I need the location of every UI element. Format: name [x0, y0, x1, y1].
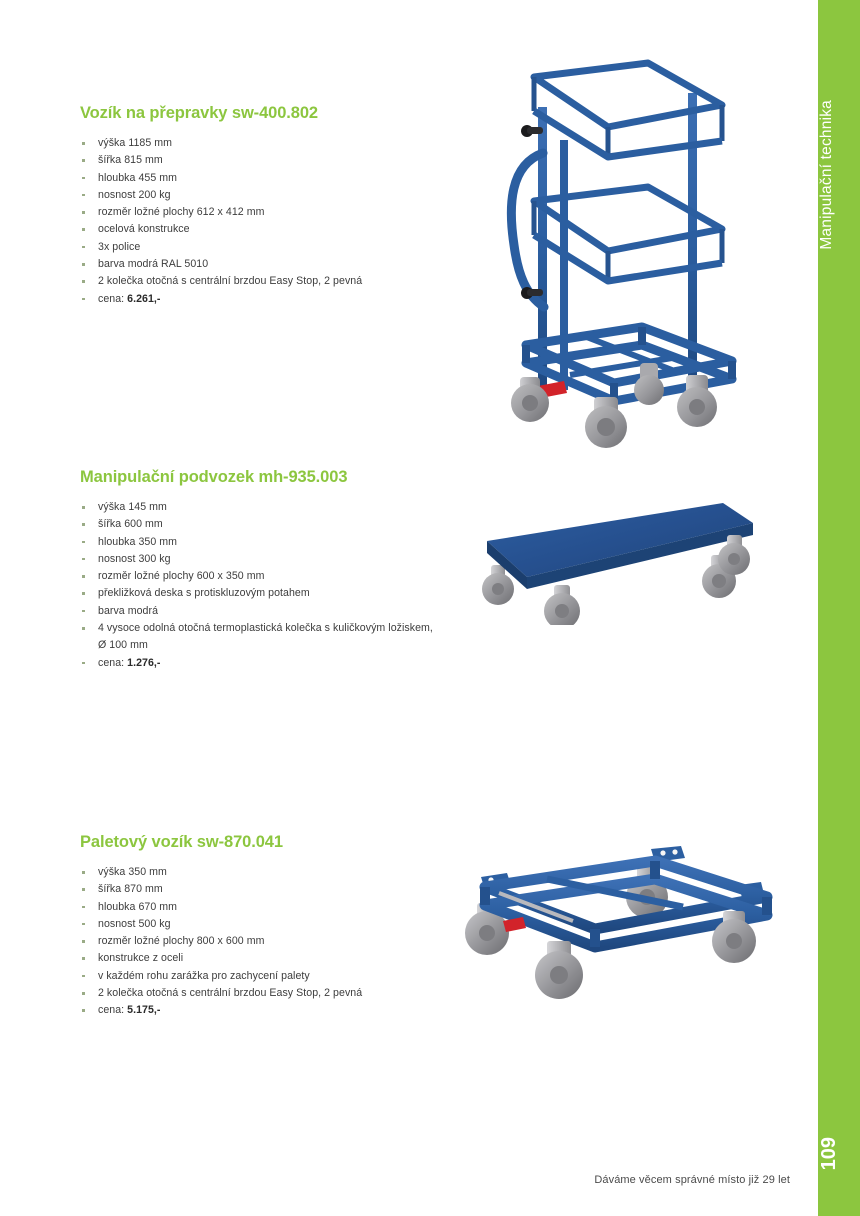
spec-item: konstrukce z oceli [80, 950, 500, 967]
pallet-dolly-photo [455, 845, 785, 1015]
spec-item: ocelová konstrukce [80, 221, 500, 238]
spec-item: barva modrá [80, 603, 500, 620]
castor-wheel [634, 363, 664, 405]
price-value: 6.261,- [127, 293, 160, 305]
spec-item: barva modrá RAL 5010 [80, 256, 500, 273]
product-spec-list: výška 145 mm šířka 600 mm hloubka 350 mm… [80, 499, 500, 672]
spec-item: nosnost 200 kg [80, 187, 500, 204]
furniture-dolly-illustration [455, 495, 755, 625]
spec-item-price: cena: 6.261,- [80, 291, 500, 308]
castor-wheel [585, 397, 627, 448]
pallet-dolly-illustration [455, 845, 785, 1015]
spec-item: hloubka 670 mm [80, 899, 500, 916]
spec-item: překližková deska s protiskluzovým potah… [80, 585, 500, 602]
spec-item-price: cena: 1.276,- [80, 655, 500, 672]
spec-item: v každém rohu zarážka pro zachycení pale… [80, 968, 500, 985]
shelf-trolley-illustration [500, 45, 750, 450]
product-block-pallet-dolly: Paletový vozík sw-870.041 výška 350 mm š… [80, 833, 500, 1020]
spec-item: nosnost 300 kg [80, 551, 500, 568]
product-spec-list: výška 350 mm šířka 870 mm hloubka 670 mm… [80, 864, 500, 1020]
product-block-furniture-dolly: Manipulační podvozek mh-935.003 výška 14… [80, 468, 500, 672]
spec-item: šířka 870 mm [80, 881, 500, 898]
spec-item-price: cena: 5.175,- [80, 1002, 500, 1019]
castor-wheel [535, 941, 583, 999]
spec-item: výška 145 mm [80, 499, 500, 516]
furniture-dolly-photo [455, 495, 755, 625]
spec-item: rozměr ložné plochy 612 x 412 mm [80, 204, 500, 221]
castor-wheel [544, 585, 580, 625]
spec-item: nosnost 500 kg [80, 916, 500, 933]
price-label: cena: [98, 657, 124, 669]
spec-item: 4 vysoce odolná otočná termoplastická ko… [80, 620, 438, 655]
category-label: Manipulační technika [818, 100, 860, 250]
product-title: Manipulační podvozek mh-935.003 [80, 468, 500, 487]
castor-wheel [626, 867, 668, 918]
product-title: Vozík na přepravky sw-400.802 [80, 104, 500, 123]
spec-item: 3x police [80, 239, 500, 256]
spec-item: hloubka 350 mm [80, 534, 500, 551]
spec-item: rozměr ložné plochy 800 x 600 mm [80, 933, 500, 950]
spec-item: výška 350 mm [80, 864, 500, 881]
spec-item: 2 kolečka otočná s centrální brzdou Easy… [80, 273, 500, 290]
shelf-trolley-photo [500, 45, 750, 450]
product-block-shelf-trolley: Vozík na přepravky sw-400.802 výška 1185… [80, 104, 500, 308]
spec-item: rozměr ložné plochy 600 x 350 mm [80, 568, 500, 585]
price-value: 5.175,- [127, 1004, 160, 1016]
spec-item: 2 kolečka otočná s centrální brzdou Easy… [80, 985, 500, 1002]
page-number: 109 [818, 1137, 860, 1170]
price-label: cena: [98, 293, 124, 305]
spec-item: šířka 815 mm [80, 152, 500, 169]
category-sidebar: Manipulační technika 109 [818, 0, 860, 1216]
price-label: cena: [98, 1004, 124, 1016]
product-spec-list: výška 1185 mm šířka 815 mm hloubka 455 m… [80, 135, 500, 308]
spec-item: hloubka 455 mm [80, 170, 500, 187]
spec-item: šířka 600 mm [80, 516, 500, 533]
product-title: Paletový vozík sw-870.041 [80, 833, 500, 852]
spec-item: výška 1185 mm [80, 135, 500, 152]
price-value: 1.276,- [127, 657, 160, 669]
footer-slogan: Dáváme věcem správné místo již 29 let [594, 1174, 790, 1186]
